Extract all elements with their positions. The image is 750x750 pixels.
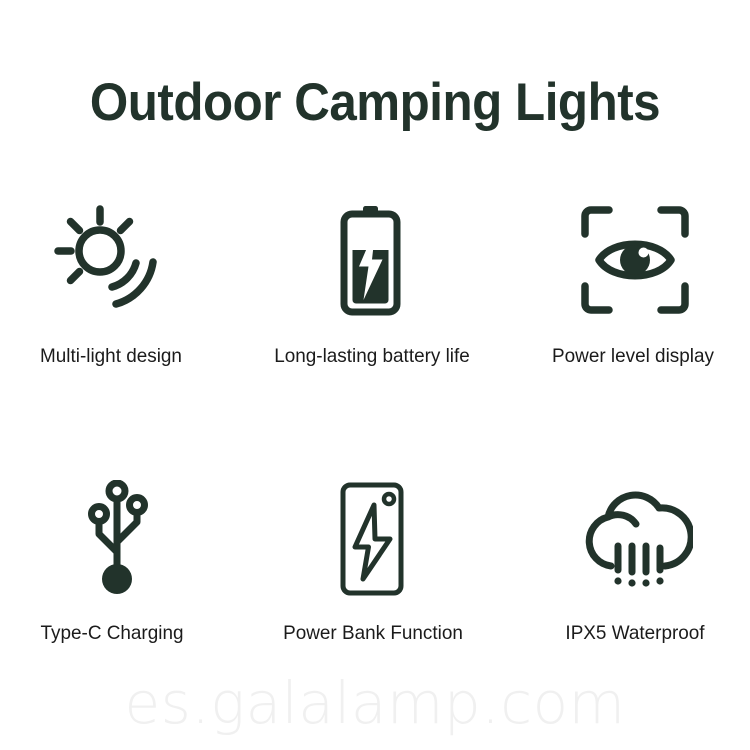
feature-label: Type-C Charging <box>0 622 233 645</box>
feature-item-power-level-display: Power level display <box>500 185 750 460</box>
feature-label: Long-lasting battery life <box>251 345 494 368</box>
site-watermark: es.galalamp.com <box>0 669 750 737</box>
feature-grid: Multi-light design Long-la <box>0 185 750 735</box>
feature-label: Power level display <box>512 345 750 368</box>
sun-waves-icon <box>50 195 168 325</box>
feature-label: IPX5 Waterproof <box>514 622 750 645</box>
usb-trident-icon <box>75 474 159 604</box>
power-bank-bolt-icon <box>334 474 410 604</box>
rain-cloud-icon <box>581 474 693 604</box>
page-title: Outdoor Camping Lights <box>26 74 724 132</box>
battery-charging-icon <box>330 195 410 325</box>
feature-label: Power Bank Function <box>252 622 495 645</box>
eye-focus-frame-icon <box>581 195 689 325</box>
feature-item-long-lasting-battery-life: Long-lasting battery life <box>250 185 500 460</box>
feature-row: Multi-light design Long-la <box>0 185 750 460</box>
feature-label: Multi-light design <box>0 345 232 368</box>
feature-item-multi-light-design: Multi-light design <box>0 185 250 460</box>
product-feature-infographic: Outdoor Camping Lights <box>0 0 750 750</box>
